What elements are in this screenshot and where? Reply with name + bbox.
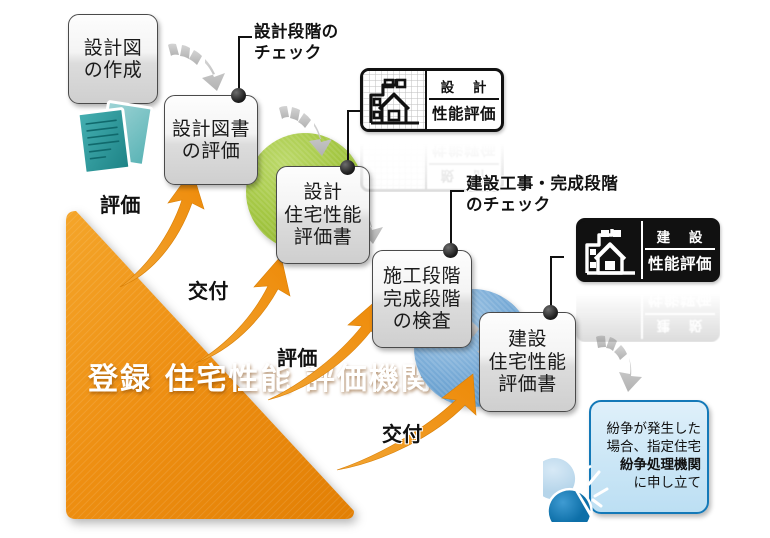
- callout-stem-h-design-stage: [238, 36, 252, 38]
- box4-line-1: 施工段階: [383, 265, 461, 287]
- callout-stem-h-design-seal: [347, 110, 361, 112]
- callout2-line-2: のチェック: [466, 194, 618, 215]
- callout-stem-design-stage: [238, 36, 240, 90]
- box3-line-1: 設計: [284, 181, 362, 203]
- callout-stem-design-seal: [347, 110, 349, 162]
- box4-line-3: の検査: [383, 310, 461, 332]
- dispute-line-1: 紛争が発生した: [597, 421, 701, 439]
- callout-stem-construction-seal: [550, 256, 552, 307]
- design-drawings-icon: [72, 100, 168, 190]
- box2-line-2: の評価: [172, 140, 250, 162]
- callout-construction-stage-check: 建設工事・完成段階 のチェック: [466, 173, 618, 216]
- arrow-label-delivery-2: 交付: [382, 421, 423, 447]
- callout-stem-h-construction-seal: [550, 256, 564, 258]
- box-design-drawing-creation[interactable]: 設計図 の作成: [68, 14, 158, 104]
- box5-line-1: 建設: [488, 328, 566, 350]
- callout-stem-construction-stage: [450, 190, 452, 245]
- seal-construction-performance: 建 設 性能評価 建 設 性能評価: [576, 218, 720, 342]
- callout1-line-1: 設計段階の: [254, 21, 339, 42]
- house-solid-icon: [579, 221, 643, 279]
- callout-dot-design-seal: [340, 160, 355, 175]
- callout-dot-design-stage: [231, 88, 246, 103]
- box3-line-2: 住宅性能: [284, 204, 362, 226]
- callout1-line-2: チェック: [254, 42, 339, 63]
- box2-line-1: 設計図書: [172, 118, 250, 140]
- seal-design-top: 設 計: [429, 76, 499, 100]
- dispute-conflict-icon: [543, 444, 629, 522]
- box1-line-2: の作成: [84, 59, 143, 81]
- seal-design-text: 設 計 性能評価: [427, 71, 501, 129]
- diagram-canvas: 登録 住宅性能 評価機関: [0, 0, 770, 538]
- seal-construction-reflection: 建 設 性能評価: [576, 284, 720, 342]
- box5-line-2: 住宅性能: [488, 351, 566, 373]
- arrow-label-delivery-1: 交付: [188, 278, 229, 304]
- box5-line-3: 評価書: [488, 373, 566, 395]
- callout-design-stage-check: 設計段階の チェック: [254, 21, 339, 64]
- seal-construction-bottom: 性能評価: [648, 250, 712, 274]
- seal-construction-body: 建 設 性能評価: [576, 218, 720, 282]
- box-construction-completion-inspection[interactable]: 施工段階 完成段階 の検査: [372, 250, 472, 348]
- seal-design-bottom: 性能評価: [432, 100, 496, 124]
- box3-line-3: 評価書: [284, 226, 362, 248]
- orange-arrow-delivery-1: [196, 256, 290, 363]
- box4-line-2: 完成段階: [383, 288, 461, 310]
- seal-design-body: 設 計 性能評価: [360, 68, 504, 132]
- seal-construction-text: 建 設 性能評価: [643, 221, 717, 279]
- seal-construction-top: 建 設: [645, 226, 715, 250]
- house-blueprint-icon: [363, 71, 427, 129]
- box-design-document-evaluation[interactable]: 設計図書 の評価: [164, 95, 258, 185]
- callout-stem-h-construction-stage: [450, 190, 464, 192]
- callout-dot-construction-seal: [543, 305, 558, 320]
- callout2-line-1: 建設工事・完成段階: [466, 173, 618, 194]
- callout-dot-construction-stage: [443, 243, 458, 258]
- box-design-housing-performance-report[interactable]: 設計 住宅性能 評価書: [276, 166, 370, 264]
- box1-line-1: 設計図: [84, 37, 143, 59]
- arrow-label-evaluation-2: 評価: [277, 345, 318, 371]
- box-construction-housing-performance-report[interactable]: 建設 住宅性能 評価書: [479, 312, 576, 412]
- arrow-label-evaluation-1: 評価: [100, 192, 141, 218]
